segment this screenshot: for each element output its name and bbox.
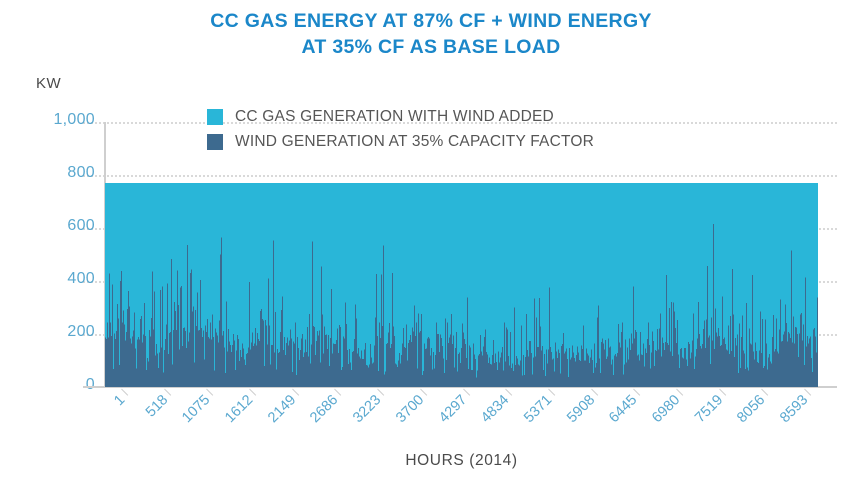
x-axis-tick-mark (505, 389, 512, 396)
x-axis-tick-label: 4834 (459, 392, 513, 446)
y-axis-tick-label: 400 (17, 270, 95, 288)
x-axis-tick-label: 2686 (288, 392, 342, 446)
x-axis-tick-mark (121, 389, 128, 396)
y-axis-tick-label: 600 (17, 217, 95, 235)
legend-swatch-icon (207, 109, 223, 125)
x-axis-title: HOURS (2014) (105, 452, 818, 470)
x-axis-tick-label: 4297 (416, 392, 470, 446)
x-axis-tick-mark (292, 389, 299, 396)
x-axis-tick-label: 2149 (245, 392, 299, 446)
x-axis-tick-mark (719, 389, 726, 396)
x-axis-tick-mark (249, 389, 256, 396)
x-axis-tick-label: 6445 (587, 392, 641, 446)
x-axis-tick-mark (676, 389, 683, 396)
y-axis-tick-labels: 1,0008006004002000 (10, 0, 95, 487)
x-axis-tick-mark (377, 389, 384, 396)
x-axis-tick-mark (761, 389, 768, 396)
x-axis-tick-mark (335, 389, 342, 396)
x-axis-tick-label: 5371 (501, 392, 555, 446)
x-axis-tick-label: 3700 (373, 392, 427, 446)
x-axis-tick-label: 6980 (630, 392, 684, 446)
y-axis-tick-label: 0 (17, 376, 95, 394)
y-axis-tick-label: 1,000 (17, 111, 95, 129)
x-axis-tick-mark (633, 389, 640, 396)
x-axis-tick-label: 8593 (758, 392, 812, 446)
chart-title-line-1: CC GAS ENERGY AT 87% CF + WIND ENERGY (0, 8, 862, 34)
legend-item[interactable]: WIND GENERATION AT 35% CAPACITY FACTOR (207, 129, 594, 154)
x-axis-tick-mark (804, 389, 811, 396)
x-axis-tick-mark (463, 389, 470, 396)
y-axis-tick-label: 800 (17, 164, 95, 182)
chart-title: CC GAS ENERGY AT 87% CF + WIND ENERGY AT… (0, 8, 862, 60)
chart-legend: CC GAS GENERATION WITH WIND ADDEDWIND GE… (207, 104, 594, 154)
x-axis-tick-label: 5908 (544, 392, 598, 446)
x-axis-tick-mark (207, 389, 214, 396)
x-axis-tick-mark (548, 389, 555, 396)
legend-swatch-icon (207, 134, 223, 150)
legend-item[interactable]: CC GAS GENERATION WITH WIND ADDED (207, 104, 594, 129)
x-axis-tick-label: 1612 (203, 392, 257, 446)
x-axis-tick-mark (591, 389, 598, 396)
x-axis-tick-label: 3223 (331, 392, 385, 446)
legend-item-label: CC GAS GENERATION WITH WIND ADDED (235, 108, 554, 126)
y-axis-tick-label: 200 (17, 323, 95, 341)
x-axis-tick-label: 518 (117, 392, 171, 446)
x-axis-tick-label: 1075 (160, 392, 214, 446)
x-axis-tick-mark (420, 389, 427, 396)
chart-title-line-2: AT 35% CF AS BASE LOAD (0, 34, 862, 60)
x-axis-tick-mark (164, 389, 171, 396)
x-axis-tick-label: 7519 (672, 392, 726, 446)
chart-plot-area (105, 122, 818, 387)
x-axis-tick-label: 8056 (715, 392, 769, 446)
legend-item-label: WIND GENERATION AT 35% CAPACITY FACTOR (235, 133, 594, 151)
chart-container: CC GAS ENERGY AT 87% CF + WIND ENERGY AT… (0, 0, 862, 487)
